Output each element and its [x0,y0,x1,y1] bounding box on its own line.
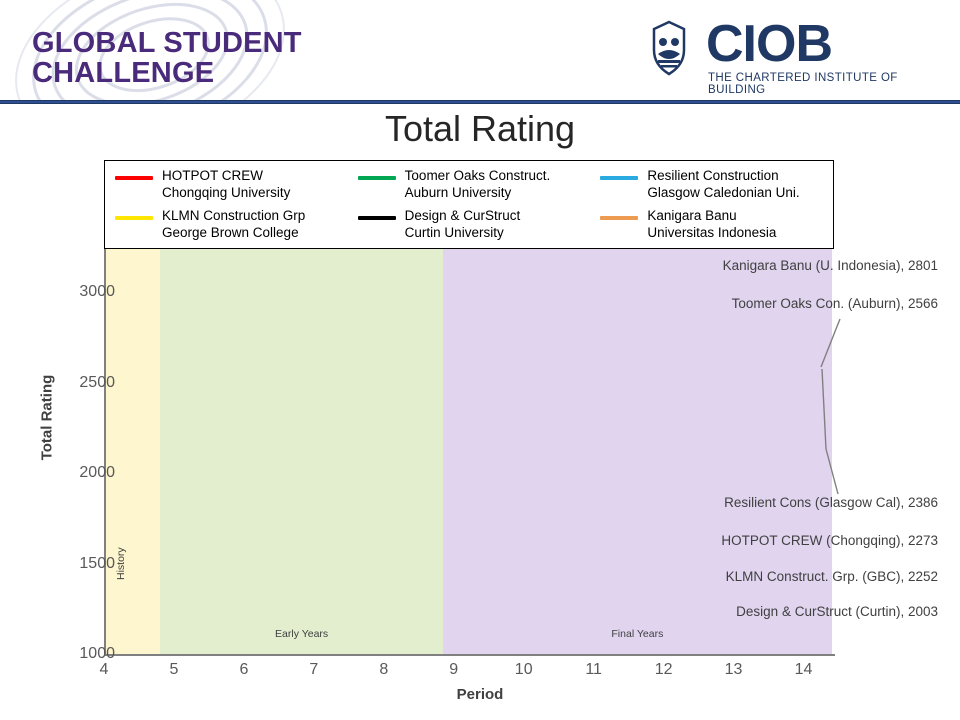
x-tick-label: 10 [504,661,544,679]
legend-color-swatch [115,216,153,220]
legend-item-label: HOTPOT CREWChongqing University [162,167,290,201]
legend-item[interactable]: Resilient ConstructionGlasgow Caledonian… [590,167,833,207]
legend-color-swatch [115,176,153,180]
x-tick-label: 14 [784,661,824,679]
chart-title: Total Rating [0,108,960,150]
chart-legend: HOTPOT CREWChongqing UniversityKLMN Cons… [104,160,834,249]
legend-item[interactable]: Toomer Oaks Construct.Auburn University [348,167,591,207]
legend-column: Resilient ConstructionGlasgow Caledonian… [590,167,833,248]
x-axis-label: Period [0,686,960,703]
legend-item-label: Design & CurStructCurtin University [405,207,521,241]
legend-color-swatch [358,176,396,180]
ciob-wordmark: CIOB [706,16,832,72]
legend-item-label: Resilient ConstructionGlasgow Caledonian… [647,167,799,201]
legend-item[interactable]: Design & CurStructCurtin University [348,207,591,247]
gsc-logo-line2: CHALLENGE [32,58,302,88]
series-annotation: KLMN Construct. Grp. (GBC), 2252 [726,569,938,584]
y-tick-label: 1500 [55,555,115,573]
legend-item[interactable]: HOTPOT CREWChongqing University [105,167,348,207]
x-axis-line [104,654,835,656]
y-axis-line [104,249,106,655]
y-tick-label: 3000 [55,283,115,301]
legend-color-swatch [600,216,638,220]
band-label-early-years: Early Years [262,628,342,640]
ciob-tagline: THE CHARTERED INSTITUTE OF BUILDING [708,72,938,96]
legend-column: HOTPOT CREWChongqing UniversityKLMN Cons… [105,167,348,248]
y-tick-label: 2000 [55,464,115,482]
x-tick-label: 4 [84,661,124,679]
legend-column: Toomer Oaks Construct.Auburn UniversityD… [348,167,591,248]
band-early-years [160,249,443,655]
legend-color-swatch [358,216,396,220]
header-divider [0,100,960,104]
band-label-history: History [116,566,127,580]
x-tick-label: 6 [224,661,264,679]
leader-line [836,319,840,329]
series-annotation: Toomer Oaks Con. (Auburn), 2566 [732,296,938,311]
y-axis-label: Total Rating [39,338,56,498]
band-history [104,249,160,655]
legend-item[interactable]: Kanigara BanuUniversitas Indonesia [590,207,833,247]
plot-canvas [104,249,835,655]
chart-plot-area: 100015002000250030004567891011121314 Tot… [0,249,960,720]
legend-item-label: Toomer Oaks Construct.Auburn University [405,167,551,201]
series-annotation: Resilient Cons (Glasgow Cal), 2386 [724,495,938,510]
series-annotation: HOTPOT CREW (Chongqing), 2273 [721,533,938,548]
x-tick-label: 5 [154,661,194,679]
x-tick-label: 12 [644,661,684,679]
x-tick-label: 9 [434,661,474,679]
series-annotation: Design & CurStruct (Curtin), 2003 [736,604,938,619]
x-tick-label: 7 [294,661,334,679]
ciob-crest-icon [638,20,700,78]
y-tick-label: 2500 [55,374,115,392]
x-tick-label: 8 [364,661,404,679]
legend-item-label: KLMN Construction GrpGeorge Brown Colleg… [162,207,305,241]
ciob-logo: CIOB THE CHARTERED INSTITUTE OF BUILDING [638,18,938,88]
x-tick-label: 11 [574,661,614,679]
page-header: GLOBAL STUDENT CHALLENGE CIOB THE CHARTE… [0,0,960,104]
x-tick-label: 13 [714,661,754,679]
global-student-challenge-logo: GLOBAL STUDENT CHALLENGE [32,28,302,88]
series-annotation: Kanigara Banu (U. Indonesia), 2801 [723,258,938,273]
legend-item-label: Kanigara BanuUniversitas Indonesia [647,207,776,241]
period-bands [104,249,835,655]
gsc-logo-line1: GLOBAL STUDENT [32,28,302,58]
legend-item[interactable]: KLMN Construction GrpGeorge Brown Colleg… [105,207,348,247]
legend-color-swatch [600,176,638,180]
band-label-final-years: Final Years [597,628,677,640]
